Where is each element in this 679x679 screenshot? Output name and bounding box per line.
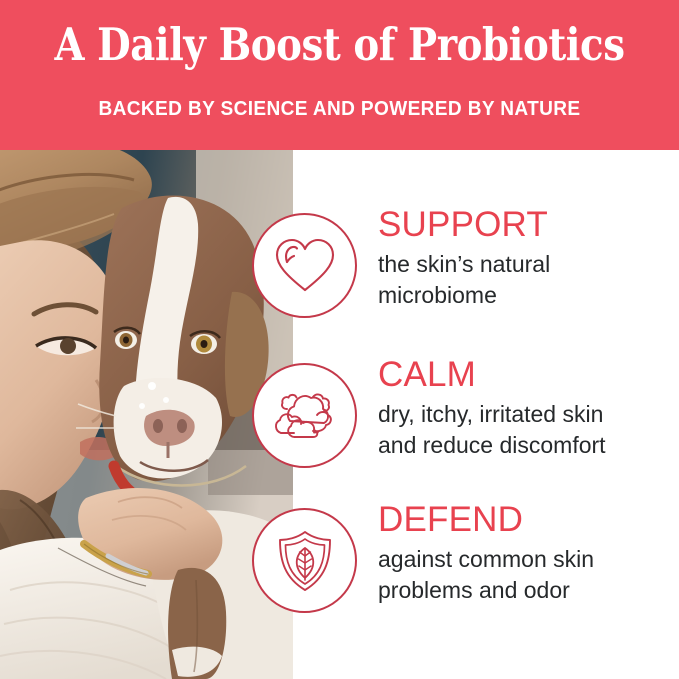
benefit-title-defend: DEFEND (378, 500, 678, 540)
benefit-desc-calm: dry, itchy, irritated skinand reduce dis… (378, 399, 678, 460)
benefit-text-support: SUPPORT the skin’s naturalmicrobiome (378, 205, 678, 310)
heart-icon (274, 237, 336, 295)
benefit-desc-support: the skin’s naturalmicrobiome (378, 249, 678, 310)
clouds-icon-badge (252, 363, 357, 468)
clouds-icon (273, 387, 337, 445)
benefit-title-support: SUPPORT (378, 205, 678, 245)
shield-leaf-icon-badge (252, 508, 357, 613)
shield-leaf-icon (275, 529, 335, 593)
page-subtitle: BACKED BY SCIENCE AND POWERED BY NATURE (24, 96, 655, 122)
header-banner: A Daily Boost of Probiotics BACKED BY SC… (0, 0, 679, 150)
benefit-item-defend: DEFEND against common skinproblems and o… (250, 500, 679, 650)
heart-icon-badge (252, 213, 357, 318)
benefit-item-calm: CALM dry, itchy, irritated skinand reduc… (250, 355, 679, 505)
benefit-desc-defend: against common skinproblems and odor (378, 544, 678, 605)
page-title: A Daily Boost of Probiotics (48, 18, 632, 72)
benefit-item-support: SUPPORT the skin’s naturalmicrobiome (250, 205, 679, 355)
product-benefits-infographic: A Daily Boost of Probiotics BACKED BY SC… (0, 0, 679, 679)
benefit-title-calm: CALM (378, 355, 678, 395)
benefit-text-defend: DEFEND against common skinproblems and o… (378, 500, 678, 605)
benefit-text-calm: CALM dry, itchy, irritated skinand reduc… (378, 355, 678, 460)
